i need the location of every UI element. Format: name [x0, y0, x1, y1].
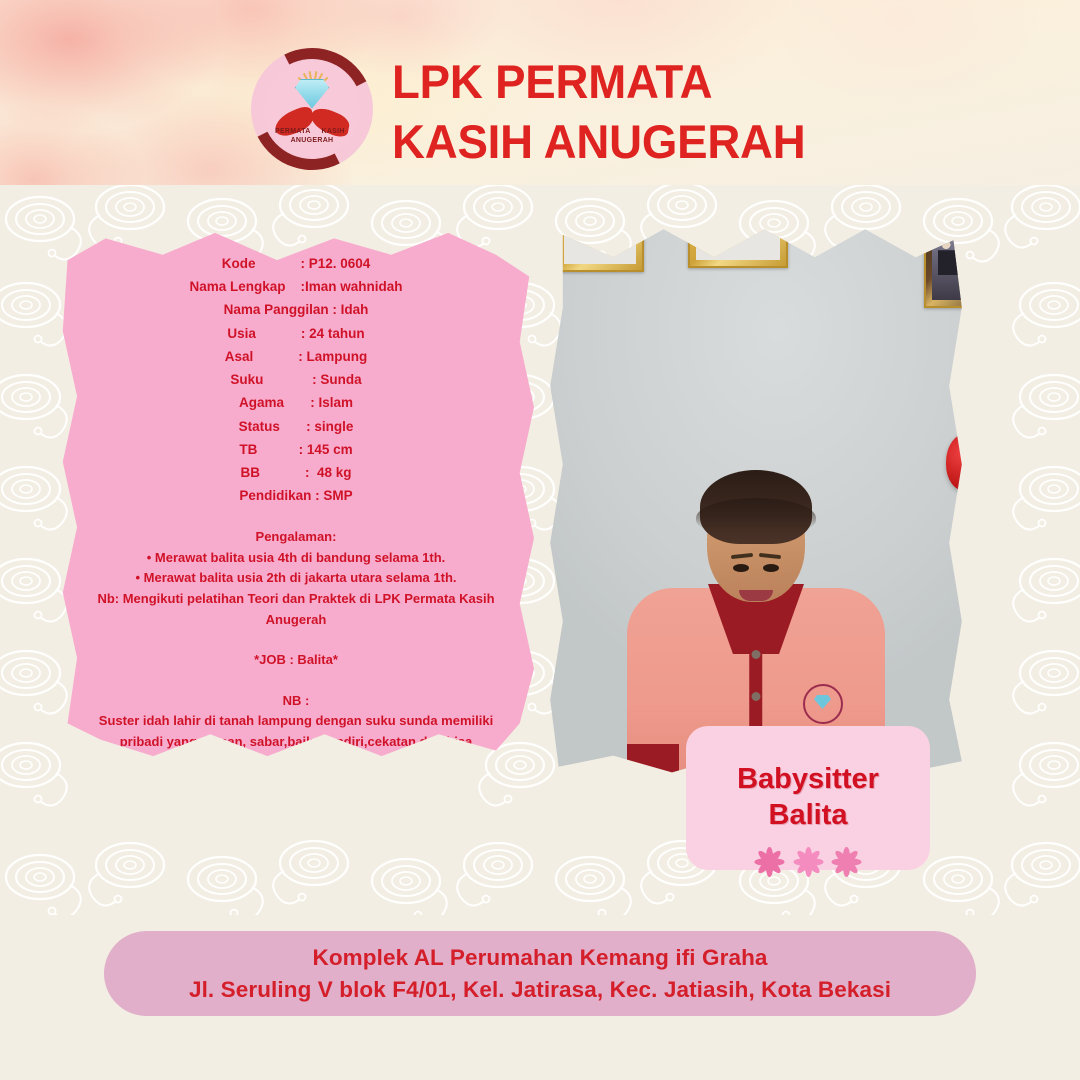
- flower-icon: [831, 847, 861, 877]
- brand-title: LPK PERMATA KASIH ANUGERAH: [392, 52, 1013, 172]
- person-eye: [763, 564, 779, 572]
- nb-heading: NB :: [74, 691, 518, 712]
- person-hair: [700, 470, 812, 544]
- uniform-button: [752, 692, 761, 701]
- address-line1: Komplek AL Perumahan Kemang ifi Graha: [312, 942, 767, 974]
- experience-item: • Merawat balita usia 4th di bandung sel…: [74, 548, 518, 569]
- experience-block: Pengalaman: • Merawat balita usia 4th di…: [74, 527, 518, 630]
- experience-item: • Merawat balita usia 2th di jakarta uta…: [74, 568, 518, 589]
- job-role-line1: Babysitter: [737, 762, 879, 798]
- job-role-badge: Babysitter Balita: [686, 726, 930, 870]
- address-line2: Jl. Seruling V blok F4/01, Kel. Jatirasa…: [189, 974, 891, 1006]
- flower-icon: [755, 847, 785, 877]
- profile-info-panel: Kode : P12. 0604 Nama Lengkap :Iman wahn…: [58, 222, 534, 767]
- person-mouth: [739, 590, 773, 601]
- experience-heading: Pengalaman:: [74, 527, 518, 548]
- experience-note: Nb: Mengikuti pelatihan Teori dan Prakte…: [74, 589, 518, 630]
- company-logo: PERMATA KASIH ANUGERAH: [251, 48, 373, 170]
- logo-ring-arc: [235, 32, 389, 186]
- address-footer: Komplek AL Perumahan Kemang ifi Graha Jl…: [104, 931, 976, 1016]
- poster-root: PERMATA KASIH ANUGERAH LPK PERMATA KASIH…: [0, 0, 1080, 1080]
- profile-field-row: Agama : Islam: [74, 391, 518, 414]
- profile-field-row: Status : single: [74, 415, 518, 438]
- candidate-photo: LPK Permata Kasih anugerah: [546, 218, 966, 778]
- profile-field-row: Usia : 24 tahun: [74, 322, 518, 345]
- job-role-line2: Balita: [769, 798, 848, 834]
- person-eye: [733, 564, 749, 572]
- profile-field-row: Kode : P12. 0604: [74, 252, 518, 275]
- profile-field-row: Nama Lengkap :Iman wahnidah: [74, 275, 518, 298]
- profile-field-row: Nama Panggilan : Idah: [74, 298, 518, 321]
- profile-field-list: Kode : P12. 0604 Nama Lengkap :Iman wahn…: [74, 252, 518, 507]
- uniform-button: [752, 650, 761, 659]
- brand-title-line2: KASIH ANUGERAH: [392, 112, 1013, 172]
- flower-icon: [793, 847, 823, 877]
- profile-field-row: BB : 48 kg: [74, 461, 518, 484]
- profile-field-row: TB : 145 cm: [74, 438, 518, 461]
- job-line: *JOB : Balita*: [74, 650, 518, 671]
- profile-field-row: Asal : Lampung: [74, 345, 518, 368]
- brand-title-line1: LPK PERMATA: [392, 52, 1013, 112]
- profile-field-row: Suku : Sunda: [74, 368, 518, 391]
- uniform-logo-embroidery: [803, 684, 843, 724]
- profile-field-row: Pendidikan : SMP: [74, 484, 518, 507]
- flower-decoration: [686, 847, 930, 882]
